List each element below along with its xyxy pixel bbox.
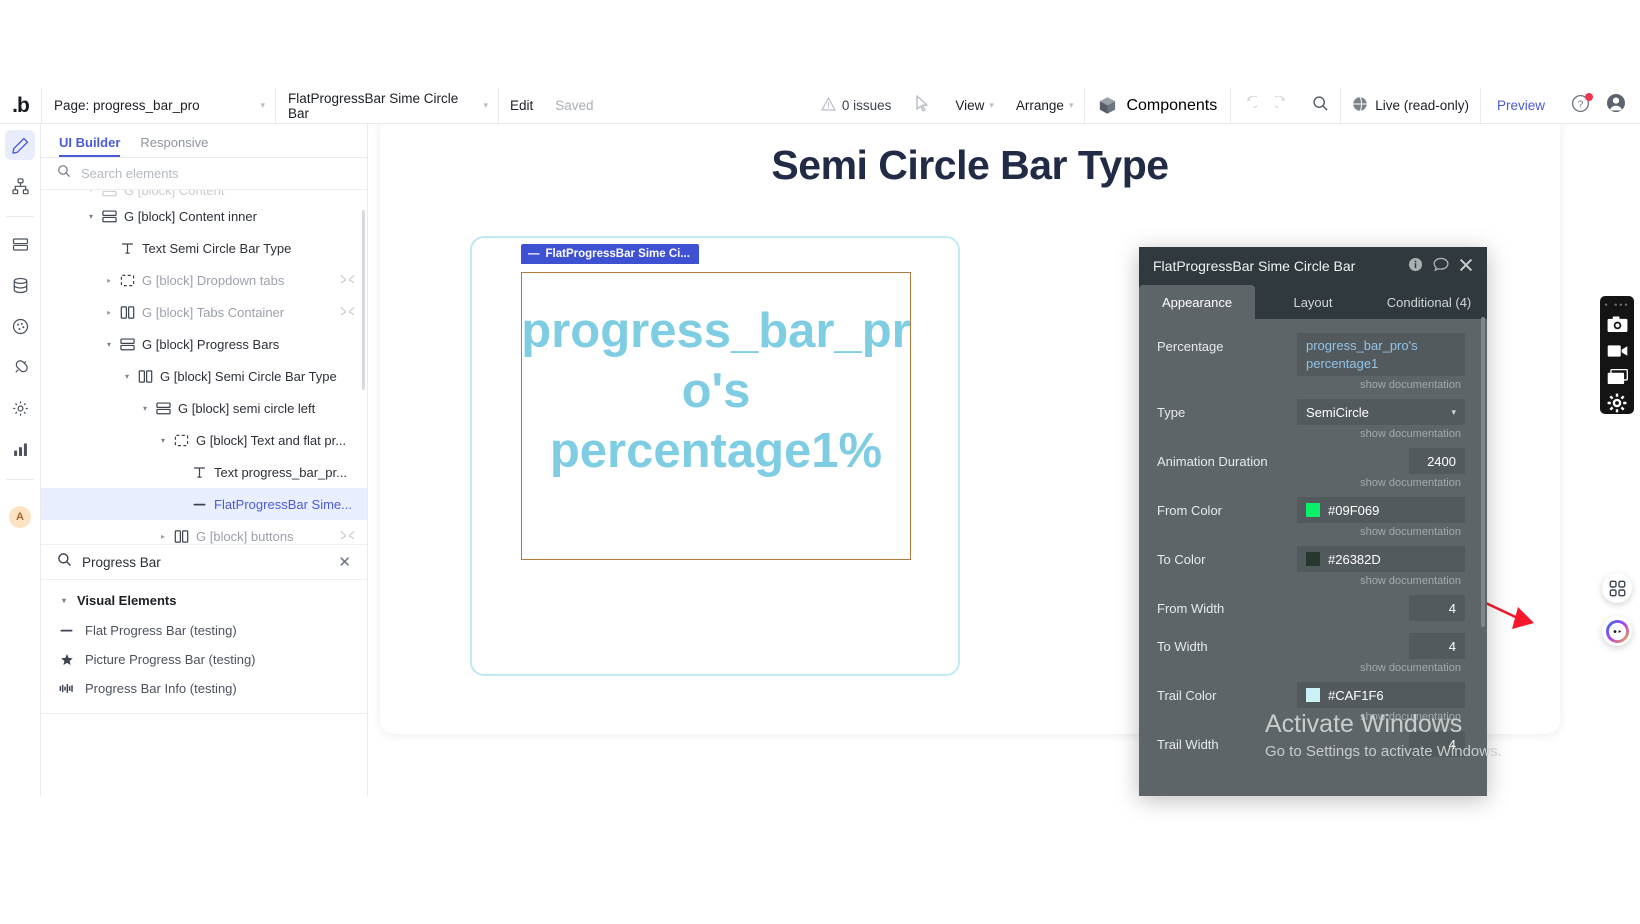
components-button[interactable]: Components xyxy=(1085,96,1230,115)
gear-icon[interactable] xyxy=(1604,391,1630,414)
rail-item-sitemap[interactable] xyxy=(5,171,35,201)
cols-icon xyxy=(135,369,155,384)
property-control: 4 xyxy=(1297,595,1465,621)
list-item-label: Progress Bar Info (testing) xyxy=(85,681,237,696)
left-panel-tabs: UI Builder Responsive xyxy=(41,124,367,158)
cols-icon xyxy=(117,305,137,320)
tree-node[interactable]: ▸G [block] buttons xyxy=(41,520,367,544)
cube-icon xyxy=(1098,96,1117,115)
tree-node-label: Text progress_bar_pr... xyxy=(214,465,347,480)
responsive-visibility-icon[interactable] xyxy=(340,530,355,543)
chevron-down-icon: ▾ xyxy=(260,100,265,111)
search-icon xyxy=(57,552,72,572)
tree-node[interactable]: ▾G [block] Semi Circle Bar Type xyxy=(41,360,367,392)
property-control: SemiCircle▾show documentation xyxy=(1297,399,1465,440)
rail-item-analytics-bars[interactable] xyxy=(5,434,35,464)
progress-info-icon xyxy=(59,682,74,695)
selection-tag[interactable]: — FlatProgressBar Sime Ci... xyxy=(521,244,699,264)
component-selector-label: FlatProgressBar Sime Circle Bar xyxy=(288,91,475,121)
responsive-visibility-icon[interactable] xyxy=(340,306,355,319)
property-field-numeric[interactable]: 4 xyxy=(1409,731,1465,757)
issues-label: 0 issues xyxy=(842,98,892,113)
arrange-menu[interactable]: Arrange ▾ xyxy=(1005,98,1085,113)
color-swatch[interactable] xyxy=(1306,552,1320,566)
elements-list: Flat Progress Bar (testing)Picture Progr… xyxy=(41,616,367,703)
tree-node[interactable]: ▾G [block] Text and flat pr... xyxy=(41,424,367,456)
live-label: Live (read-only) xyxy=(1375,98,1469,113)
undo-icon[interactable] xyxy=(1231,96,1266,116)
notification-dot xyxy=(1585,93,1593,101)
tab-conditional[interactable]: Conditional (4) xyxy=(1371,285,1487,319)
tree-node-label: G [block] Semi Circle Bar Type xyxy=(160,369,337,384)
redo-icon[interactable] xyxy=(1266,96,1301,116)
warning-triangle-icon xyxy=(821,97,836,114)
property-label: Percentage xyxy=(1157,333,1297,354)
tree-node-label: FlatProgressBar Sime... xyxy=(214,497,352,512)
property-row: Trail Width4 xyxy=(1139,723,1487,761)
drag-handle[interactable]: • ••• xyxy=(1604,300,1629,310)
property-label: Trail Color xyxy=(1157,682,1297,703)
tree-node-label: G [block] Content inner xyxy=(124,209,257,224)
section-label: Visual Elements xyxy=(77,593,176,608)
show-documentation-link[interactable]: show documentation xyxy=(1297,659,1465,674)
tree-node[interactable]: ▾G [block] Content xyxy=(41,190,367,200)
chevron-right-icon[interactable]: ▸ xyxy=(155,532,171,541)
svg-text:?: ? xyxy=(1578,99,1584,110)
help-button[interactable]: ? xyxy=(1561,94,1600,118)
show-documentation-link[interactable]: show documentation xyxy=(1297,708,1465,723)
tree-node-label: G [block] Content xyxy=(124,190,224,198)
search-input[interactable] xyxy=(81,166,351,181)
property-value: #09F069 xyxy=(1328,503,1379,518)
property-field-dropdown[interactable]: SemiCircle▾ xyxy=(1297,399,1465,425)
chevron-down-icon: ▾ xyxy=(483,100,488,111)
assistant-orb-button[interactable] xyxy=(1602,616,1632,646)
text-icon xyxy=(189,465,209,480)
chevron-down-icon: ▾ xyxy=(1451,407,1456,418)
rail-item-widgets[interactable] xyxy=(5,229,35,259)
chevron-down-icon[interactable]: ▾ xyxy=(83,212,99,221)
property-label: From Width xyxy=(1157,595,1297,616)
show-documentation-link[interactable]: show documentation xyxy=(1297,523,1465,538)
user-avatar-icon[interactable] xyxy=(1600,93,1640,118)
property-control: #09F069show documentation xyxy=(1297,497,1465,538)
video-icon[interactable] xyxy=(1604,339,1630,362)
property-value: SemiCircle xyxy=(1306,405,1369,420)
property-control: 4show documentation xyxy=(1297,633,1465,674)
info-icon[interactable] xyxy=(1408,257,1423,275)
text-icon xyxy=(117,241,137,256)
tree-node-label: G [block] Progress Bars xyxy=(142,337,279,352)
responsive-visibility-icon[interactable] xyxy=(340,274,355,287)
property-value: #CAF1F6 xyxy=(1328,688,1384,703)
chevron-right-icon[interactable]: ▸ xyxy=(101,308,117,317)
page-selector[interactable]: Page: progress_bar_pro ▾ xyxy=(42,88,275,124)
property-label: To Color xyxy=(1157,546,1297,567)
property-control: #CAF1F6show documentation xyxy=(1297,682,1465,723)
properties-tabs: Appearance Layout Conditional (4) xyxy=(1139,285,1487,319)
cols-icon xyxy=(171,529,191,544)
properties-panel: FlatProgressBar Sime Circle Bar Appearan… xyxy=(1139,247,1487,796)
rail-user-avatar[interactable]: A xyxy=(9,506,31,528)
chevron-right-icon[interactable]: ▸ xyxy=(101,276,117,285)
rail-item-database[interactable] xyxy=(5,270,35,300)
chevron-down-icon[interactable]: ▾ xyxy=(83,190,99,195)
tree-scrollbar[interactable] xyxy=(362,210,365,390)
tree-node[interactable]: ▾G [block] Content inner xyxy=(41,200,367,232)
properties-rows: Percentageprogress_bar_pro's percentage1… xyxy=(1139,319,1487,761)
section-visual-elements[interactable]: ▾ Visual Elements xyxy=(41,580,367,616)
properties-scrollbar[interactable] xyxy=(1481,317,1485,627)
tree-node[interactable]: ▸G [block] Tabs Container xyxy=(41,296,367,328)
property-row: TypeSemiCircle▾show documentation xyxy=(1139,391,1487,440)
search-icon xyxy=(57,164,71,183)
preview-button[interactable]: Preview xyxy=(1481,98,1561,113)
property-value: #26382D xyxy=(1328,552,1381,567)
close-icon[interactable] xyxy=(1459,258,1473,275)
view-menu[interactable]: View ▾ xyxy=(944,98,1005,113)
arrange-menu-label: Arrange xyxy=(1016,98,1064,113)
dashed-icon xyxy=(117,273,137,288)
tab-ui-builder[interactable]: UI Builder xyxy=(59,135,120,157)
left-panel: UI Builder Responsive ▾G [block] Content… xyxy=(41,124,368,796)
property-row: To Width4show documentation xyxy=(1139,625,1487,674)
property-field-color[interactable]: #09F069 xyxy=(1297,497,1465,523)
property-row: From Color#09F069show documentation xyxy=(1139,489,1487,538)
property-row: From Width4 xyxy=(1139,587,1487,625)
chevron-down-icon[interactable]: ▾ xyxy=(119,372,135,381)
rail-item-design-pencil[interactable] xyxy=(5,130,35,160)
property-row: Percentageprogress_bar_pro's percentage1… xyxy=(1139,325,1487,391)
color-swatch[interactable] xyxy=(1306,503,1320,517)
top-toolbar: .b Page: progress_bar_pro ▾ FlatProgress… xyxy=(0,88,1640,124)
property-label: Type xyxy=(1157,399,1297,420)
camera-icon[interactable] xyxy=(1604,313,1630,336)
chevron-down-icon[interactable]: ▾ xyxy=(101,340,117,349)
tree-node[interactable]: ▸G [block] Dropdown tabs xyxy=(41,264,367,296)
divider xyxy=(6,216,34,217)
property-label: From Color xyxy=(1157,497,1297,518)
show-documentation-link[interactable]: show documentation xyxy=(1297,474,1465,489)
list-item[interactable]: Picture Progress Bar (testing) xyxy=(41,645,367,674)
tree-node[interactable]: ▾G [block] Progress Bars xyxy=(41,328,367,360)
dash-icon xyxy=(189,497,209,512)
tree-node[interactable]: Text progress_bar_pr... xyxy=(41,456,367,488)
progress-bar-text: progress_bar_pro's percentage1% xyxy=(521,302,911,481)
list-item-label: Picture Progress Bar (testing) xyxy=(85,652,256,667)
property-field-numeric[interactable]: 2400 xyxy=(1409,448,1465,474)
comment-icon[interactable] xyxy=(1433,257,1449,275)
tree-node-label: G [block] semi circle left xyxy=(178,401,315,416)
elements-library-search[interactable]: ✕ xyxy=(41,544,367,580)
property-label: To Width xyxy=(1157,633,1297,654)
property-field-numeric[interactable]: 4 xyxy=(1409,633,1465,659)
tree-node-label: Text Semi Circle Bar Type xyxy=(142,241,291,256)
dash-icon xyxy=(59,623,74,638)
color-swatch[interactable] xyxy=(1306,688,1320,702)
tab-responsive[interactable]: Responsive xyxy=(140,135,208,157)
divider xyxy=(6,479,34,480)
rail-item-settings-gear[interactable] xyxy=(5,393,35,423)
property-field-numeric[interactable]: 4 xyxy=(1409,595,1465,621)
property-row: To Color#26382Dshow documentation xyxy=(1139,538,1487,587)
properties-panel-title: FlatProgressBar Sime Circle Bar xyxy=(1153,258,1398,274)
property-control: progress_bar_pro's percentage1show docum… xyxy=(1297,333,1465,391)
elements-search-input[interactable] xyxy=(82,555,328,570)
element-search-bar[interactable] xyxy=(41,158,367,190)
list-item[interactable]: Progress Bar Info (testing) xyxy=(41,674,367,703)
rail-item-theme-palette[interactable] xyxy=(5,311,35,341)
show-documentation-link[interactable]: show documentation xyxy=(1297,425,1465,440)
chevron-down-icon[interactable]: ▾ xyxy=(137,404,153,413)
globe-icon xyxy=(1352,96,1368,115)
component-selector[interactable]: FlatProgressBar Sime Circle Bar ▾ xyxy=(276,88,498,124)
tree-node[interactable]: FlatProgressBar Sime... xyxy=(41,488,367,520)
page-title: Semi Circle Bar Type xyxy=(380,142,1560,189)
tree-node-label: G [block] buttons xyxy=(196,529,294,544)
selection-tag-label: FlatProgressBar Sime Ci... xyxy=(546,248,690,260)
page-selector-label: Page: progress_bar_pro xyxy=(54,98,200,113)
show-documentation-link[interactable]: show documentation xyxy=(1297,572,1465,587)
tab-layout[interactable]: Layout xyxy=(1255,285,1371,319)
left-icon-rail: A xyxy=(0,124,41,796)
issues-button[interactable]: 0 issues xyxy=(811,97,902,114)
property-field-link[interactable]: progress_bar_pro's percentage1 xyxy=(1297,333,1465,376)
screen-capture-toolbar[interactable]: • ••• xyxy=(1600,296,1634,414)
chevron-down-icon: ▾ xyxy=(59,596,69,605)
dashed-icon xyxy=(171,433,191,448)
stack-icon xyxy=(99,190,119,198)
app-logo[interactable]: .b xyxy=(0,88,41,124)
chevron-down-icon: ▾ xyxy=(989,100,994,111)
search-icon[interactable] xyxy=(1301,95,1340,117)
chevron-down-icon: ▾ xyxy=(1069,100,1074,111)
list-item-label: Flat Progress Bar (testing) xyxy=(85,623,237,638)
star-icon xyxy=(59,653,74,667)
tree-node-label: G [block] Dropdown tabs xyxy=(142,273,284,288)
stack-icon xyxy=(153,401,173,416)
show-documentation-link[interactable]: show documentation xyxy=(1297,376,1465,391)
list-item[interactable]: Flat Progress Bar (testing) xyxy=(41,616,367,645)
tree-node-label: G [block] Tabs Container xyxy=(142,305,284,320)
chevron-down-icon[interactable]: ▾ xyxy=(155,436,171,445)
tree-node[interactable]: ▾G [block] semi circle left xyxy=(41,392,367,424)
property-label: Trail Width xyxy=(1157,731,1297,752)
cursor-select-icon[interactable] xyxy=(901,95,944,117)
rail-item-integrations-plug[interactable] xyxy=(5,352,35,382)
property-control: 2400show documentation xyxy=(1297,448,1465,489)
saved-status: Saved xyxy=(544,88,604,124)
element-tree[interactable]: ▾G [block] Content▾G [block] Content inn… xyxy=(41,190,367,544)
property-field-color[interactable]: #CAF1F6 xyxy=(1297,682,1465,708)
view-menu-label: View xyxy=(955,98,984,113)
property-label: Animation Duration xyxy=(1157,448,1297,469)
tree-node[interactable]: Text Semi Circle Bar Type xyxy=(41,232,367,264)
divider xyxy=(41,713,367,714)
tab-appearance[interactable]: Appearance xyxy=(1139,285,1255,319)
properties-panel-header: FlatProgressBar Sime Circle Bar xyxy=(1139,247,1487,285)
components-label: Components xyxy=(1126,97,1217,115)
stack-icon xyxy=(99,209,119,224)
property-control: 4 xyxy=(1297,731,1465,757)
property-control: #26382Dshow documentation xyxy=(1297,546,1465,587)
apps-grid-button[interactable] xyxy=(1602,573,1632,603)
window-icon[interactable] xyxy=(1604,365,1630,388)
edit-button[interactable]: Edit xyxy=(499,88,544,124)
live-mode-button[interactable]: Live (read-only) xyxy=(1341,96,1480,115)
property-row: Animation Duration2400show documentation xyxy=(1139,440,1487,489)
tree-node-label: G [block] Text and flat pr... xyxy=(196,433,346,448)
property-field-color[interactable]: #26382D xyxy=(1297,546,1465,572)
dash-icon: — xyxy=(528,248,540,260)
property-row: Trail Color#CAF1F6show documentation xyxy=(1139,674,1487,723)
close-icon[interactable]: ✕ xyxy=(338,553,351,571)
stack-icon xyxy=(117,337,137,352)
